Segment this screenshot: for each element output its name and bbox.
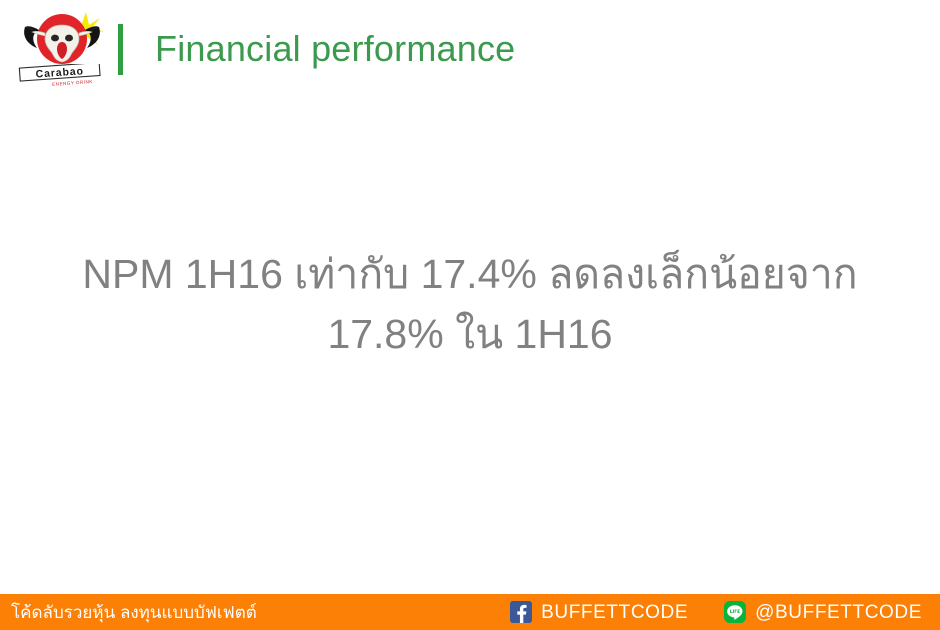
- social-facebook[interactable]: BUFFETTCODE: [510, 601, 688, 623]
- facebook-handle[interactable]: BUFFETTCODE: [541, 603, 688, 622]
- logo-tagline: ENERGY DRINK: [52, 79, 94, 87]
- page-title: Financial performance: [155, 22, 515, 76]
- title-accent-bar: [118, 24, 123, 75]
- body-line-2: 17.8% ใน 1H16: [40, 304, 900, 364]
- line-icon[interactable]: [724, 601, 746, 623]
- footer-social-group: BUFFETTCODE: [510, 594, 922, 630]
- carabao-logo: Carabao ENERGY DRINK: [12, 8, 112, 92]
- line-handle[interactable]: @BUFFETTCODE: [755, 603, 922, 622]
- slide-header: Carabao ENERGY DRINK Financial performan…: [0, 0, 940, 100]
- social-line[interactable]: @BUFFETTCODE: [724, 601, 922, 623]
- body-line-1: NPM 1H16 เท่ากับ 17.4% ลดลงเล็กน้อยจาก: [40, 244, 900, 304]
- slide-footer: โค้ดลับรวยหุ้น ลงทุนแบบบัฟเฟตต์ BUFFETTC…: [0, 594, 940, 630]
- logo-wordmark: Carabao: [35, 65, 84, 80]
- slide-body: NPM 1H16 เท่ากับ 17.4% ลดลงเล็กน้อยจาก 1…: [40, 244, 900, 364]
- footer-tagline: โค้ดลับรวยหุ้น ลงทุนแบบบัฟเฟตต์: [11, 594, 257, 630]
- slide: Carabao ENERGY DRINK Financial performan…: [0, 0, 940, 630]
- facebook-icon[interactable]: [510, 601, 532, 623]
